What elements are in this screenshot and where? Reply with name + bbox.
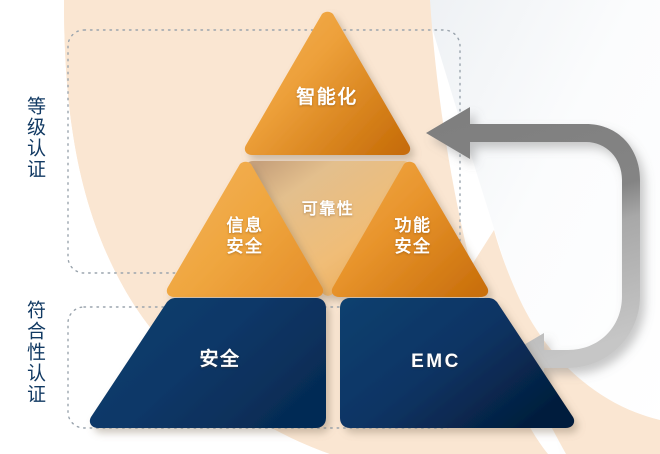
- diagram-canvas: 智能化 可靠性 信息 安全 功能 安全 安全 EMC 等级认证 符合性认证: [0, 0, 660, 454]
- pyramid-layer: [0, 0, 660, 454]
- pyramid-label-smart: 智能化: [262, 86, 392, 110]
- side-label-level-certification: 等级认证: [24, 96, 44, 180]
- pyramid-block-smart[interactable]: [245, 12, 410, 155]
- pyramid-label-safety: 安全: [150, 348, 290, 372]
- pyramid-label-functional-safety: 功能 安全: [358, 215, 468, 258]
- side-label-compliance-certification: 符合性认证: [24, 300, 44, 405]
- pyramid-label-emc: EMC: [366, 350, 506, 374]
- pyramid-label-information-security: 信息 安全: [190, 215, 300, 258]
